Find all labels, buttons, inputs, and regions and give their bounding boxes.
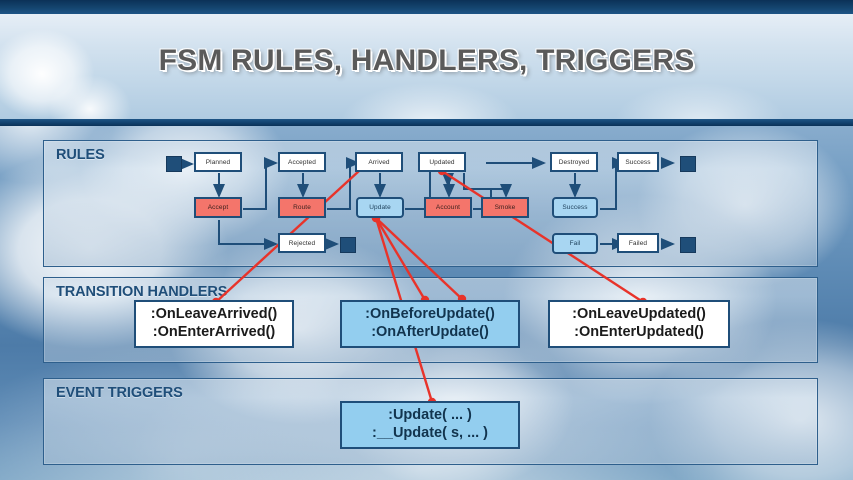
fsm-node-planned: Planned — [194, 152, 242, 172]
fsm-node-update: Update — [356, 197, 404, 218]
slide-root: FSM RULES, HANDLERS, TRIGGERS RULES — [0, 0, 853, 480]
code-line: :__Update( s, ... ) — [372, 425, 488, 443]
handler-box-arrived-handlers: :OnLeaveArrived():OnEnterArrived() — [134, 300, 294, 348]
code-line: :OnEnterArrived() — [153, 324, 275, 342]
fsm-endpoint-start — [166, 156, 182, 172]
code-line: :OnAfterUpdate() — [371, 324, 489, 342]
page-title: FSM RULES, HANDLERS, TRIGGERS — [0, 44, 853, 78]
triggers-panel-title: EVENT TRIGGERS — [56, 385, 183, 401]
fsm-node-success1: Success — [552, 197, 598, 218]
fsm-node-account: Account — [424, 197, 472, 218]
fsm-node-rejected: Rejected — [278, 233, 326, 253]
fsm-node-route: Route — [278, 197, 326, 218]
code-line: :Update( ... ) — [388, 407, 472, 425]
handler-box-updated-handlers: :OnLeaveUpdated():OnEnterUpdated() — [548, 300, 730, 348]
trigger-box-update-triggers: :Update( ... ):__Update( s, ... ) — [340, 401, 520, 449]
fsm-node-failed: Failed — [617, 233, 659, 253]
fsm-node-success2: Success — [617, 152, 659, 172]
fsm-endpoint-end1 — [680, 156, 696, 172]
header-divider-bar — [0, 119, 853, 126]
code-line: :OnBeforeUpdate() — [365, 306, 495, 324]
code-line: :OnLeaveUpdated() — [572, 306, 706, 324]
fsm-node-arrived: Arrived — [355, 152, 403, 172]
handlers-panel-title: TRANSITION HANDLERS — [56, 284, 227, 300]
fsm-node-fail: Fail — [552, 233, 598, 254]
fsm-endpoint-end2 — [340, 237, 356, 253]
fsm-endpoint-end3 — [680, 237, 696, 253]
fsm-node-destroyed: Destroyed — [550, 152, 598, 172]
code-line: :OnLeaveArrived() — [151, 306, 278, 324]
fsm-node-updated: Updated — [418, 152, 466, 172]
code-line: :OnEnterUpdated() — [574, 324, 704, 342]
top-accent-bar — [0, 0, 853, 14]
fsm-node-accept: Accept — [194, 197, 242, 218]
fsm-node-accepted: Accepted — [278, 152, 326, 172]
handler-box-update-handlers: :OnBeforeUpdate():OnAfterUpdate() — [340, 300, 520, 348]
fsm-node-smoke: Smoke — [481, 197, 529, 218]
